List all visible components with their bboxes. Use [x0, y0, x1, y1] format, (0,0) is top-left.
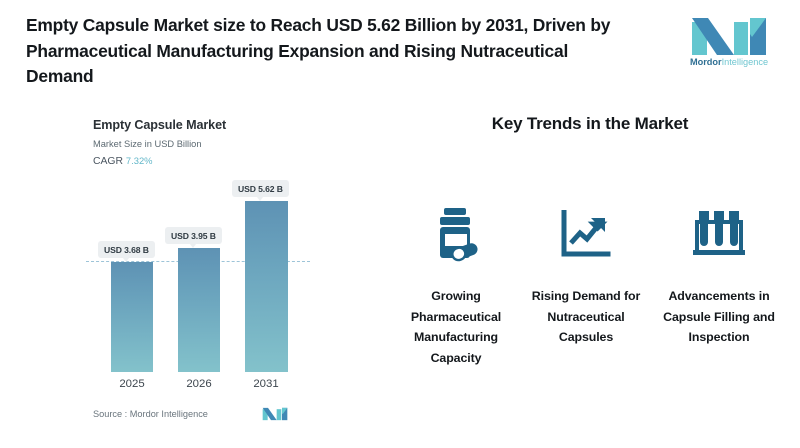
brand-logo: MordorIntelligence: [681, 12, 777, 74]
bar-2025: [111, 262, 153, 372]
pill-bottle-icon: [397, 204, 515, 266]
trend-item-1: Growing Pharmaceutical Manufacturing Cap…: [397, 204, 515, 368]
chart-source: Source : Mordor Intelligence: [93, 409, 208, 419]
logo-mark-icon: [690, 12, 768, 55]
source-logo-icon: [262, 405, 288, 421]
bar-chart-plot: USD 3.68 B USD 3.95 B USD 5.62 B 2025 20…: [0, 96, 380, 448]
bar-value-label: USD 3.95 B: [165, 227, 222, 244]
x-axis-tick-label: 2031: [236, 378, 296, 390]
trend-item-2: Rising Demand for Nutraceutical Capsules: [527, 204, 645, 348]
test-tubes-icon: [660, 204, 778, 266]
key-trends-panel: Key Trends in the Market Growing Pharmac…: [380, 96, 800, 448]
key-trends-title: Key Trends in the Market: [380, 114, 800, 134]
chart-panel: Empty Capsule Market Market Size in USD …: [0, 96, 380, 448]
page-title: Empty Capsule Market size to Reach USD 5…: [26, 13, 636, 90]
logo-word-mordor: Mordor: [690, 57, 722, 67]
trend-label: Advancements in Capsule Filling and Insp…: [660, 286, 778, 348]
trend-item-3: Advancements in Capsule Filling and Insp…: [660, 204, 778, 348]
x-axis-tick-label: 2026: [169, 378, 229, 390]
bar-value-label: USD 5.62 B: [232, 180, 289, 197]
logo-wordmark: MordorIntelligence: [681, 57, 777, 68]
logo-word-intelligence: Intelligence: [722, 57, 768, 67]
rising-chart-icon: [527, 204, 645, 266]
bar-2026: [178, 248, 220, 372]
trend-label: Growing Pharmaceutical Manufacturing Cap…: [397, 286, 515, 368]
trend-label: Rising Demand for Nutraceutical Capsules: [527, 286, 645, 348]
bar-value-label: USD 3.68 B: [98, 241, 155, 258]
x-axis-tick-label: 2025: [102, 378, 162, 390]
bar-2031: [245, 201, 288, 372]
page-header: Empty Capsule Market size to Reach USD 5…: [0, 0, 800, 96]
